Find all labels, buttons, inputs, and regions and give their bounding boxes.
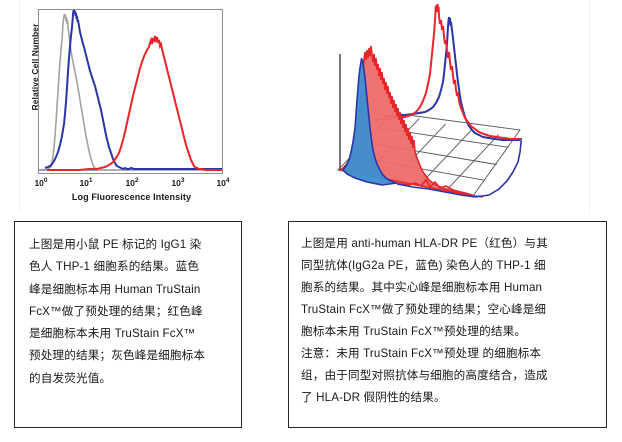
trace-blue xyxy=(45,10,222,169)
right-caption-line-0: 上图是用 anti-human HLA-DR PE（红色）与其 xyxy=(301,233,596,255)
left-caption-box: 上图是用小鼠 PE 标记的 IgG1 染 色人 THP-1 细胞系的结果。蓝色 … xyxy=(14,221,242,428)
left-caption-line-5: 预处理的结果；灰色峰是细胞标本 xyxy=(29,345,229,367)
left-plot-frame xyxy=(38,9,223,174)
x-tick-label-0: 100 xyxy=(34,178,47,188)
left-caption-line-3: FcX™做了预处理的结果；红色峰 xyxy=(29,301,229,323)
right-caption-line-5: 注意：未用 TruStain FcX™预处理 的细胞标本 xyxy=(301,343,596,365)
x-tick-label-1: 101 xyxy=(79,178,92,188)
x-tick-label-4: 104 xyxy=(216,178,229,188)
left-caption-line-1: 色人 THP-1 细胞系的结果。蓝色 xyxy=(29,256,229,278)
panel-divider-right xyxy=(589,0,590,212)
right-caption-box: 上图是用 anti-human HLA-DR PE（红色）与其 同型抗体(IgG… xyxy=(288,221,607,428)
x-tick-label-3: 103 xyxy=(171,178,184,188)
left-x-axis-label: Log Fluorescence Intensity xyxy=(20,192,243,202)
left-caption-line-0: 上图是用小鼠 PE 标记的 IgG1 染 xyxy=(29,234,229,256)
right-caption-line-6: 组，由于同型对照抗体与细胞的高度结合，造成 xyxy=(301,365,596,387)
trace-red xyxy=(47,36,222,170)
left-caption-line-6: 的自发荧光值。 xyxy=(29,368,229,390)
right-caption-line-3: TruStain FcX™做了预处理的结果；空心峰是细 xyxy=(301,299,596,321)
x-tick-label-2: 102 xyxy=(125,178,138,188)
right-caption-line-1: 同型抗体(IgG2a PE，蓝色) 染色人的 THP-1 细 xyxy=(301,255,596,277)
right-caption-line-2: 胞系的结果。其中实心峰是细胞标本用 Human xyxy=(301,277,596,299)
right-histogram-3d-svg xyxy=(283,0,589,212)
left-y-axis-label: Relative Cell Number xyxy=(30,7,40,127)
right-caption-line-4: 胞标本未用 TruStain FcX™预处理的结果。 xyxy=(301,321,596,343)
right-caption-line-7: 了 HLA-DR 假阴性的结果。 xyxy=(301,387,596,409)
left-histogram-svg xyxy=(39,10,222,173)
right-figure-panel xyxy=(283,0,589,212)
left-caption-line-2: 峰是细胞标本用 Human TruStain xyxy=(29,279,229,301)
left-figure-panel: Relative Cell Number 100 101 102 103 104… xyxy=(20,0,243,212)
left-caption-line-4: 是细胞标本未用 TruStain FcX™ xyxy=(29,323,229,345)
